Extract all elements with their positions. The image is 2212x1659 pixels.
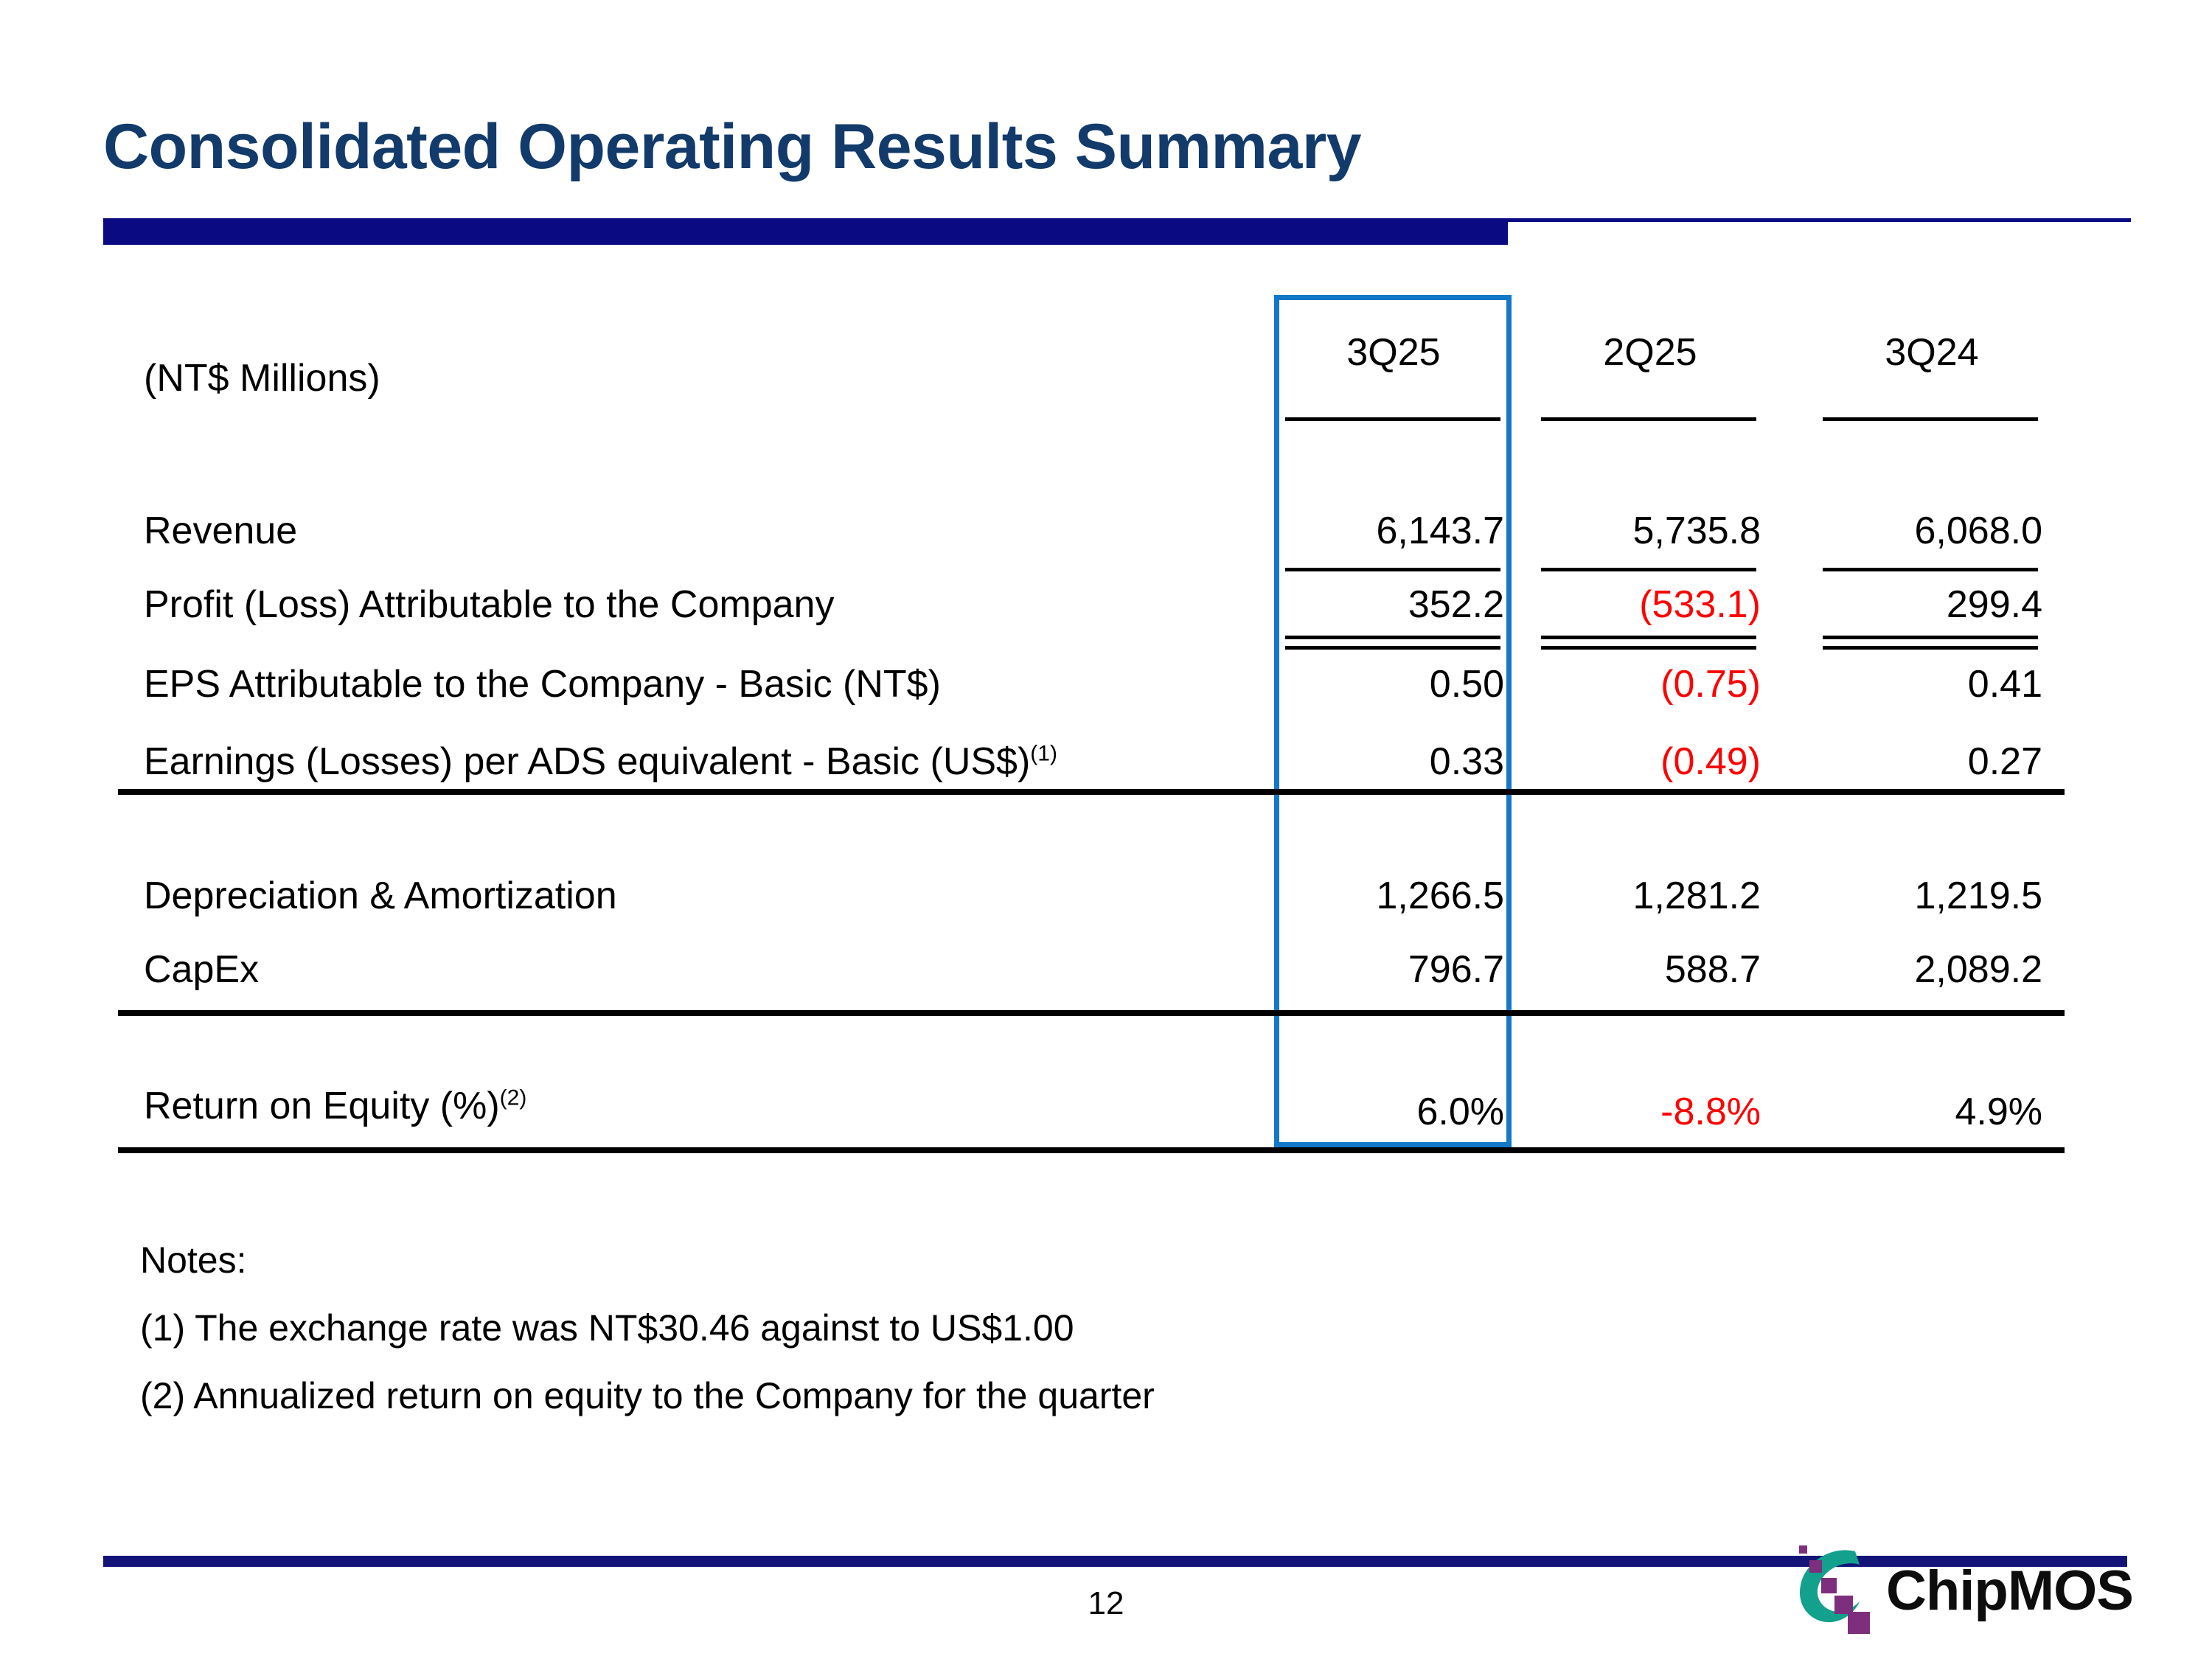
cell-profit-3q25: 352.2 [1283,582,1504,627]
row-label-depreciation: Depreciation & Amortization [144,874,617,918]
row-label-capex: CapEx [144,947,259,992]
cell-revenue-3q24: 6,068.0 [1821,509,2042,553]
row-rule-profit-2q25-top [1541,636,1756,639]
row-rule-revenue-2q25 [1541,568,1756,571]
cell-revenue-3q25: 6,143.7 [1283,509,1504,553]
notes-heading: Notes: [140,1239,1155,1281]
row-rule-revenue-3q24 [1823,568,2038,571]
row-label-profit-loss: Profit (Loss) Attributable to the Compan… [144,582,834,627]
unit-label: (NT$ Millions) [144,356,380,400]
section-divider-2 [118,1010,2065,1016]
header-rule-3q24 [1823,417,2038,421]
row-label-ads-note: (1) [1030,742,1057,766]
cell-capex-3q25: 796.7 [1283,947,1504,992]
row-rule-profit-3q25-bottom [1285,646,1500,650]
column-header-3q25: 3Q25 [1283,330,1504,375]
row-label-ads-text: Earnings (Losses) per ADS equivalent - B… [144,740,1030,783]
row-label-roe-note: (2) [500,1086,527,1110]
column-header-3q24: 3Q24 [1821,330,2042,375]
cell-eps-2q25: (0.75) [1540,662,1761,706]
row-label-roe-text: Return on Equity (%) [144,1085,500,1127]
cell-profit-2q25: (533.1) [1540,582,1761,627]
cell-capex-3q24: 2,089.2 [1821,947,2042,992]
column-header-2q25: 2Q25 [1540,330,1761,375]
row-rule-profit-3q24-bottom [1823,646,2038,650]
section-divider-1 [118,789,2065,795]
note-item-1: (1) The exchange rate was NT$30.46 again… [140,1307,1155,1349]
row-rule-profit-3q25-top [1285,636,1500,639]
cell-roe-3q25: 6.0% [1283,1090,1504,1134]
row-label-roe: Return on Equity (%)(2) [144,1084,526,1128]
cell-ads-3q24: 0.27 [1821,740,2042,784]
cell-revenue-2q25: 5,735.8 [1540,509,1761,553]
cell-ads-3q25: 0.33 [1283,740,1504,784]
cell-capex-2q25: 588.7 [1540,947,1761,992]
cell-profit-3q24: 299.4 [1821,582,2042,627]
row-label-ads: Earnings (Losses) per ADS equivalent - B… [144,740,1057,784]
cell-ads-2q25: (0.49) [1540,740,1761,784]
chipmos-wordmark: ChipMOS [1886,1559,2133,1623]
cell-roe-3q24: 4.9% [1821,1090,2042,1134]
chipmos-logo: ChipMOS [1792,1541,2138,1637]
cell-depreciation-3q24: 1,219.5 [1821,874,2042,918]
row-rule-profit-2q25-bottom [1541,646,1756,650]
row-label-revenue: Revenue [144,509,297,553]
header-rule-3q25 [1285,417,1500,421]
section-divider-3 [118,1147,2065,1153]
chipmos-swoosh-icon [1792,1541,1888,1637]
row-label-eps: EPS Attributable to the Company - Basic … [144,662,941,706]
current-quarter-highlight-box [1274,295,1512,1147]
notes-block: Notes: (1) The exchange rate was NT$30.4… [140,1239,1155,1442]
row-rule-revenue-3q25 [1285,568,1500,571]
cell-depreciation-3q25: 1,266.5 [1283,874,1504,918]
cell-eps-3q25: 0.50 [1283,662,1504,706]
header-rule-2q25 [1541,417,1756,421]
cell-depreciation-2q25: 1,281.2 [1540,874,1761,918]
note-item-2: (2) Annualized return on equity to the C… [140,1374,1155,1417]
cell-eps-3q24: 0.41 [1821,662,2042,706]
cell-roe-2q25: -8.8% [1540,1090,1761,1134]
row-rule-profit-3q24-top [1823,636,2038,639]
